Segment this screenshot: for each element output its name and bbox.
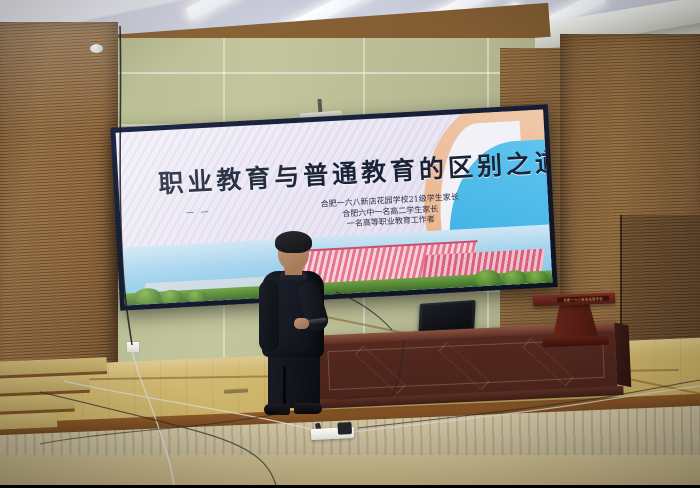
stage-step[interactable] (0, 376, 90, 397)
lectern-base (543, 336, 609, 348)
stage-steps[interactable] (0, 348, 182, 442)
led-display-screen[interactable]: 职业教育与普通教育的区别之道 — — 合肥一六八新店花园学校21级学生家长 合肥… (110, 104, 557, 310)
auditorium-photo: 职业教育与普通教育的区别之道 — — 合肥一六八新店花园学校21级学生家长 合肥… (0, 0, 700, 488)
stage-step[interactable] (0, 413, 57, 433)
side-wall-wood-left (0, 22, 118, 394)
person-arm-left (259, 280, 279, 352)
table-right-side (614, 322, 631, 387)
person-shoe-left (264, 404, 290, 415)
table-diamond-inlay (355, 346, 406, 394)
table-diamond-inlay (439, 342, 490, 390)
photo-tree (160, 289, 183, 303)
photo-tree (134, 288, 161, 305)
person-leg-split (283, 366, 286, 408)
person-legs (268, 352, 320, 408)
presentation-slide: 职业教育与普通教育的区别之道 — — 合肥一六八新店花园学校21级学生家长 合肥… (116, 110, 553, 306)
stage-step[interactable] (0, 394, 75, 415)
stage-decor-sphere (90, 44, 103, 53)
lectern[interactable]: 合肥一六八新店花园学校 (533, 292, 617, 351)
hall-floor (0, 455, 700, 488)
lectern-plate-text: 合肥一六八新店花园学校 (563, 295, 603, 302)
person-shoe-right (294, 403, 322, 414)
lectern-column (551, 303, 598, 339)
photo-tree (502, 270, 527, 285)
presenter-person (258, 234, 334, 416)
power-strip[interactable] (311, 427, 355, 440)
lectern-name-plate: 合肥一六八新店花园学校 (557, 295, 609, 302)
slide-dash: — — (186, 207, 211, 217)
stage-step[interactable] (0, 357, 107, 379)
person-hand (294, 318, 309, 329)
lectern-top: 合肥一六八新店花园学校 (533, 292, 615, 306)
wall-outlet[interactable] (126, 341, 140, 353)
photo-tree (474, 269, 501, 286)
eyeglasses-icon (284, 248, 308, 254)
